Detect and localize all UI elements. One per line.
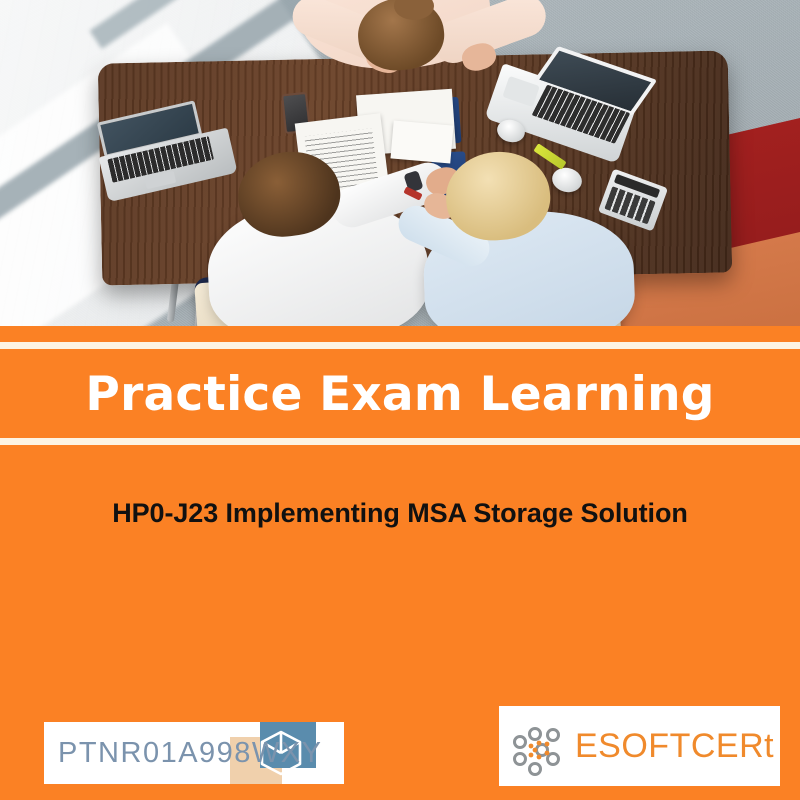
- dot-cluster-icon: [511, 726, 583, 778]
- poster: Practice Exam Learning HP0-J23 Implement…: [0, 0, 800, 800]
- partner-code-logo: PTNR01A998WXY: [44, 722, 344, 784]
- exam-subtitle: HP0-J23 Implementing MSA Storage Solutio…: [0, 498, 800, 529]
- esoftcert-brand-text: ESOFTCERt: [575, 727, 774, 766]
- document-sheet: [390, 120, 453, 163]
- banner-rule-bottom: [0, 438, 800, 445]
- esoftcert-logo: ESOFTCERt: [499, 706, 780, 786]
- header-photo: [0, 0, 800, 326]
- banner-rule-top: [0, 342, 800, 349]
- partner-code-text: PTNR01A998WXY: [58, 737, 323, 770]
- page-title: Practice Exam Learning: [0, 356, 800, 432]
